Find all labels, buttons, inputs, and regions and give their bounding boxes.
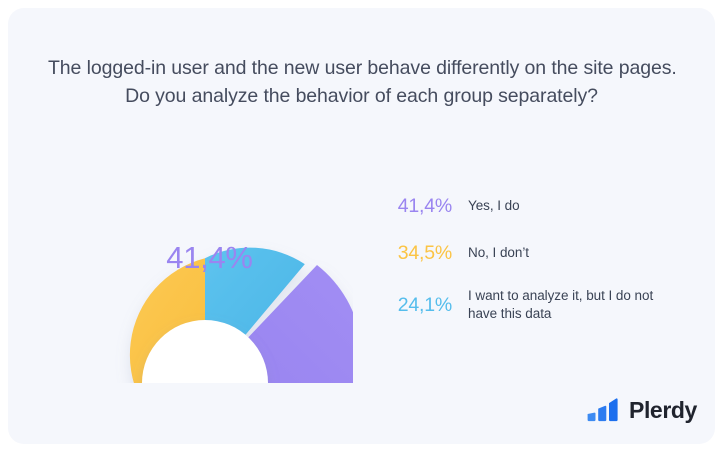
legend-label: No, I don’t: [468, 244, 529, 262]
infographic-card: The logged-in user and the new user beha…: [8, 8, 715, 444]
plerdy-bars-icon: [586, 397, 620, 423]
chart-legend: 41,4% Yes, I do 34,5% No, I don’t 24,1% …: [380, 193, 680, 323]
title-line-1: The logged-in user and the new user beha…: [48, 54, 675, 82]
donut-chart-svg: [68, 133, 353, 383]
plerdy-logo-text: Plerdy: [629, 397, 697, 423]
legend-item-want-to-analyze: 24,1% I want to analyze it, but I do not…: [380, 287, 680, 323]
legend-percent: 41,4%: [380, 193, 452, 219]
legend-item-no-i-dont: 34,5% No, I don’t: [380, 240, 680, 266]
legend-label: I want to analyze it, but I do not have …: [468, 287, 673, 323]
title-line-2: Do you analyze the behavior of each grou…: [48, 82, 675, 110]
legend-label: Yes, I do: [468, 197, 520, 215]
plerdy-logo: Plerdy: [586, 397, 697, 423]
donut-chart: 41,4%: [68, 133, 353, 383]
legend-item-yes-i-do: 41,4% Yes, I do: [380, 193, 680, 219]
legend-percent: 24,1%: [380, 292, 452, 318]
legend-percent: 34,5%: [380, 240, 452, 266]
page-title: The logged-in user and the new user beha…: [48, 54, 675, 110]
screenshot-root: The logged-in user and the new user beha…: [0, 0, 723, 452]
